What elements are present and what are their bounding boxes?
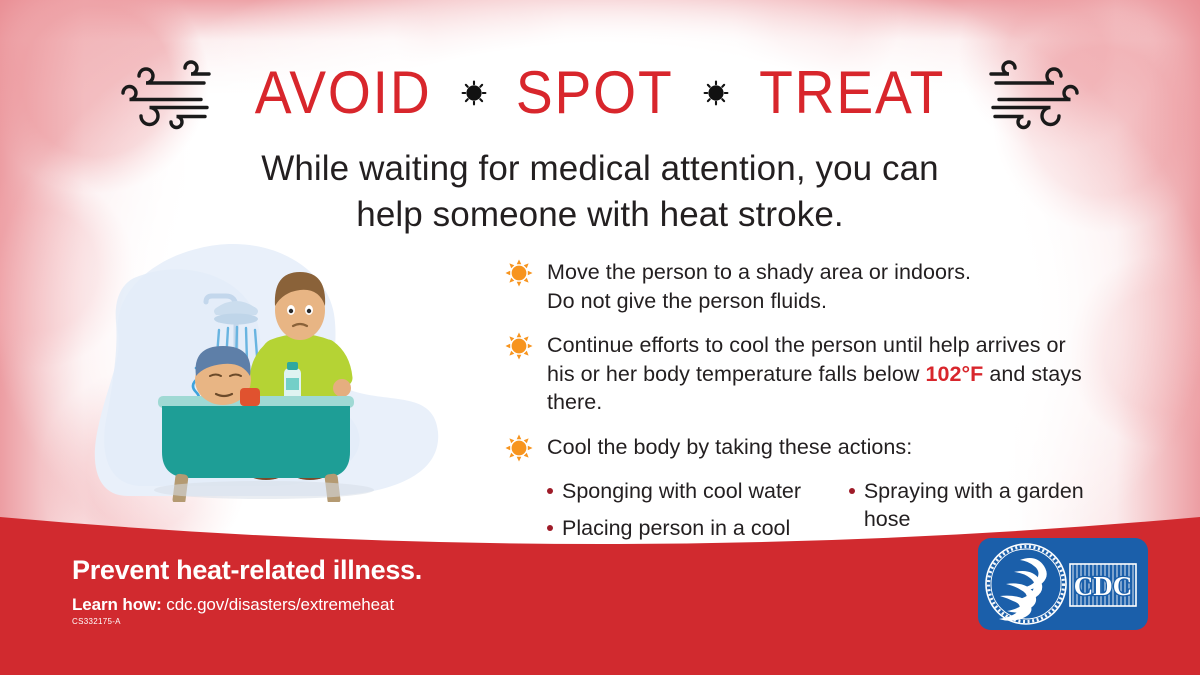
page-title: AVOID SPOT: [247, 63, 953, 123]
cdc-wordmark: CDC: [1074, 571, 1133, 601]
cdc-logo: CDC: [978, 538, 1148, 635]
subtitle-line-1: While waiting for medical attention, you…: [0, 146, 1200, 192]
point-1-line-2: Do not give the person fluids.: [547, 287, 971, 316]
point-2-prefix: his or her body temperature falls below: [547, 362, 925, 386]
bullet-dot-icon: [547, 488, 553, 494]
illustration-bathtub-cooling: [88, 240, 440, 507]
point-3-line-1: Cool the body by taking these actions:: [547, 433, 912, 462]
wind-swirl-icon: [109, 56, 217, 130]
header: AVOID SPOT: [0, 52, 1200, 134]
footer-message: Prevent heat-related illness. Learn how:…: [72, 555, 422, 615]
subtitle: While waiting for medical attention, you…: [0, 146, 1200, 237]
bullet-dot-icon: [849, 488, 855, 494]
sun-icon: [505, 332, 533, 360]
publication-code: CS332175-A: [72, 617, 121, 626]
sun-icon: [505, 434, 533, 462]
title-word-spot: SPOT: [516, 63, 674, 123]
point-1-line-1: Move the person to a shady area or indoo…: [547, 258, 971, 287]
point-2-line-1: Continue efforts to cool the person unti…: [547, 331, 1130, 360]
wind-swirl-icon: [983, 56, 1091, 130]
footer-learn-more: Learn how: cdc.gov/disasters/extremeheat: [72, 595, 422, 615]
footer-headline: Prevent heat-related illness.: [72, 555, 422, 586]
sun-icon: [703, 80, 729, 106]
footer-url[interactable]: cdc.gov/disasters/extremeheat: [166, 595, 394, 614]
sun-icon: [505, 259, 533, 287]
footer-learn-label: Learn how:: [72, 595, 162, 614]
list-item: Move the person to a shady area or indoo…: [505, 258, 1130, 315]
title-word-treat: TREAT: [759, 63, 945, 123]
infographic-poster: AVOID SPOT: [0, 0, 1200, 675]
list-item: Cool the body by taking these actions:: [505, 433, 1130, 462]
subtitle-line-2: help someone with heat stroke.: [0, 192, 1200, 238]
list-item: Continue efforts to cool the person unti…: [505, 331, 1130, 417]
sun-icon: [461, 80, 487, 106]
title-word-avoid: AVOID: [255, 63, 432, 123]
list-item-text: Continue efforts to cool the person unti…: [547, 331, 1130, 417]
temperature-value: 102°F: [925, 362, 983, 386]
list-item-text: Move the person to a shady area or indoo…: [547, 258, 971, 315]
list-item-text: Cool the body by taking these actions:: [547, 433, 912, 462]
point-2-line-2: his or her body temperature falls below …: [547, 360, 1130, 417]
footer: Prevent heat-related illness. Learn how:…: [0, 495, 1200, 675]
